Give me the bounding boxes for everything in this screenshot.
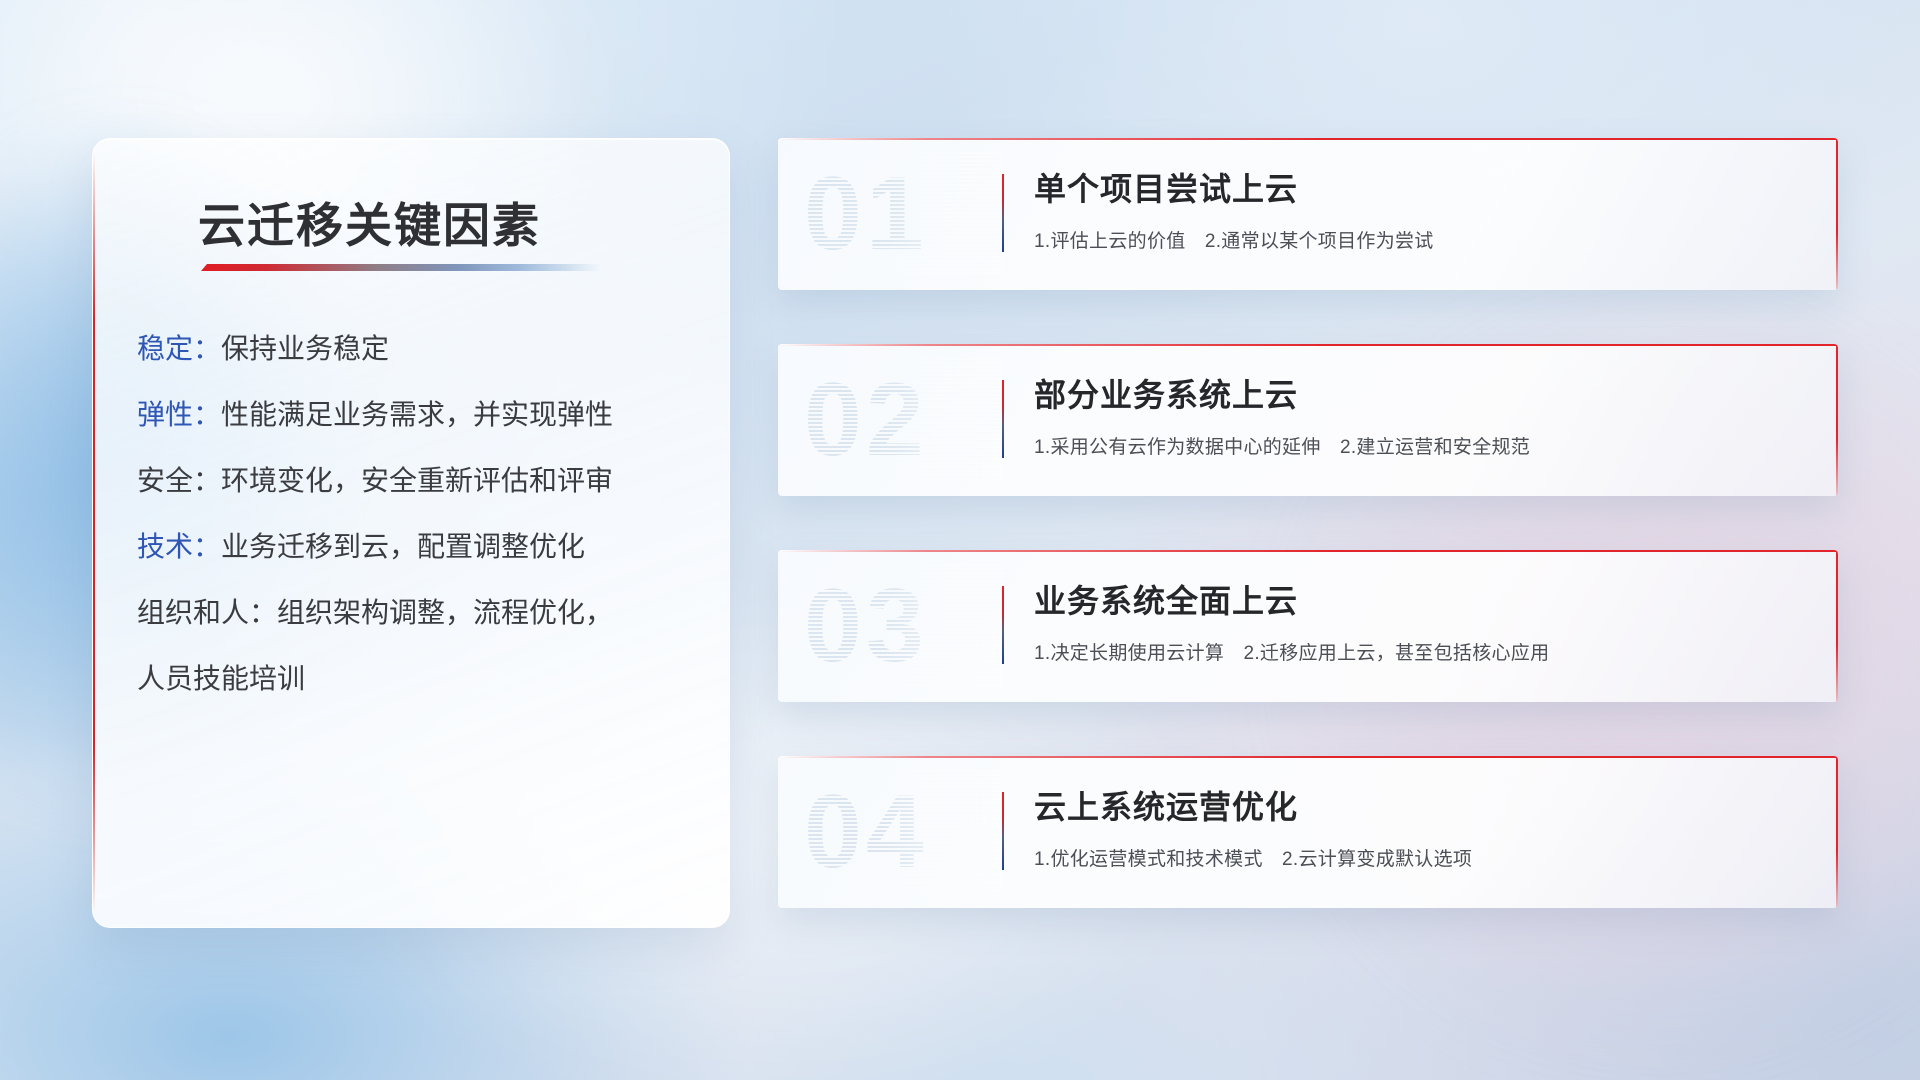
card-right-accent-line [1836,138,1838,290]
stage-number-watermark: 04 [804,770,1004,894]
title-underline-rule [201,264,601,271]
card-subtitle: 1.优化运营模式和技术模式 2.云计算变成默认选项 [1034,844,1798,871]
factor-item-technology: 技术： 业务迁移到云，配置调整优化 [137,533,699,561]
stage-number-watermark: 03 [804,564,1004,688]
card-body: 部分业务系统上云 1.采用公有云作为数据中心的延伸 2.建立运营和安全规范 [1034,370,1798,459]
card-top-accent-line [778,550,1838,552]
factor-label: 组织和人： [137,599,277,627]
card-subtitle: 1.采用公有云作为数据中心的延伸 2.建立运营和安全规范 [1034,432,1798,459]
stage-card-04[interactable]: 04 云上系统运营优化 1.优化运营模式和技术模式 2.云计算变成默认选项 [778,756,1838,908]
factor-text: 保持业务稳定 [221,335,389,363]
factor-item-organization-continued: 人员技能培训 [137,665,699,693]
migration-stage-cards: 01 单个项目尝试上云 1.评估上云的价值 2.通常以某个项目作为尝试 02 部… [778,138,1838,908]
stage-card-02[interactable]: 02 部分业务系统上云 1.采用公有云作为数据中心的延伸 2.建立运营和安全规范 [778,344,1838,496]
card-subtitle: 1.决定长期使用云计算 2.迁移应用上云，甚至包括核心应用 [1034,638,1798,665]
page-title: 云迁移关键因素 [198,187,541,256]
factor-item-security: 安全： 环境变化，安全重新评估和评审 [137,467,699,495]
card-divider-bar [1002,174,1004,252]
stage-card-03[interactable]: 03 业务系统全面上云 1.决定长期使用云计算 2.迁移应用上云，甚至包括核心应… [778,550,1838,702]
card-divider-bar [1002,792,1004,870]
stage-number-watermark: 01 [804,152,1004,276]
factor-item-stability: 稳定： 保持业务稳定 [137,335,699,363]
factor-label: 安全： [137,467,221,495]
stage-card-01[interactable]: 01 单个项目尝试上云 1.评估上云的价值 2.通常以某个项目作为尝试 [778,138,1838,290]
key-factors-panel: 云迁移关键因素 稳定： 保持业务稳定 弹性： 性能满足业务需求，并实现弹性 安全… [92,138,730,928]
factor-label: 技术： [137,533,221,561]
card-title: 业务系统全面上云 [1034,576,1798,622]
factor-text: 组织架构调整，流程优化， [277,599,613,627]
factor-item-organization: 组织和人： 组织架构调整，流程优化， [137,599,699,627]
card-body: 单个项目尝试上云 1.评估上云的价值 2.通常以某个项目作为尝试 [1034,164,1798,253]
factor-text: 业务迁移到云，配置调整优化 [221,533,585,561]
factor-list: 稳定： 保持业务稳定 弹性： 性能满足业务需求，并实现弹性 安全： 环境变化，安… [137,335,699,693]
card-title: 部分业务系统上云 [1034,370,1798,416]
card-divider-bar [1002,380,1004,458]
card-top-accent-line [778,138,1838,140]
card-title: 单个项目尝试上云 [1034,164,1798,210]
factor-item-elasticity: 弹性： 性能满足业务需求，并实现弹性 [137,401,699,429]
card-top-accent-line [778,344,1838,346]
factor-text: 人员技能培训 [137,665,305,693]
factor-label: 稳定： [137,335,221,363]
card-right-accent-line [1836,344,1838,496]
card-divider-bar [1002,586,1004,664]
card-title: 云上系统运营优化 [1034,782,1798,828]
factor-text: 环境变化，安全重新评估和评审 [221,467,613,495]
card-right-accent-line [1836,756,1838,908]
card-subtitle: 1.评估上云的价值 2.通常以某个项目作为尝试 [1034,226,1798,253]
card-body: 云上系统运营优化 1.优化运营模式和技术模式 2.云计算变成默认选项 [1034,782,1798,871]
stage-number-watermark: 02 [804,358,1004,482]
card-top-accent-line [778,756,1838,758]
card-body: 业务系统全面上云 1.决定长期使用云计算 2.迁移应用上云，甚至包括核心应用 [1034,576,1798,665]
card-right-accent-line [1836,550,1838,702]
factor-text: 性能满足业务需求，并实现弹性 [221,401,613,429]
factor-label: 弹性： [137,401,221,429]
